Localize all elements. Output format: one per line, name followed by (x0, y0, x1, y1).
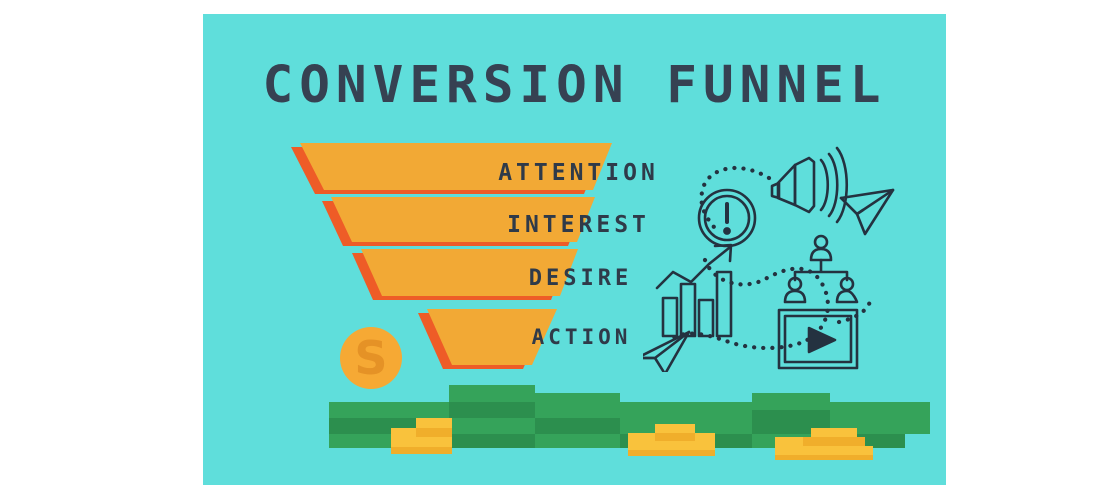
megaphone-icon (772, 148, 847, 222)
bar-chart-icon (657, 245, 731, 336)
social-network-icon (785, 236, 857, 302)
video-player-icon (779, 310, 857, 372)
conversion-funnel-poster: CONVERSION FUNNEL ATTENTION INTEREST DES… (203, 14, 946, 485)
marketing-icons-group (643, 142, 903, 372)
paper-plane-icon-2 (643, 332, 689, 372)
paper-plane-icon (841, 190, 893, 234)
